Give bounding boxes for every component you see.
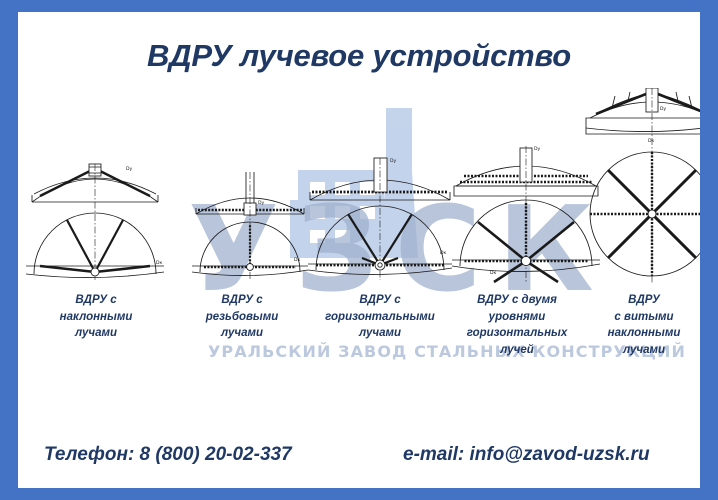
caption-line: ВДРУ с	[306, 292, 454, 309]
caption-line: горизонтальных	[442, 325, 592, 342]
contact-bar: Телефон: 8 (800) 20-02-337 e-mail: info@…	[18, 438, 700, 472]
svg-text:Dк: Dк	[440, 250, 447, 256]
caption-vdru-two-level-horizontal-rays: ВДРУ с двумя уровнями горизонтальных луч…	[442, 292, 592, 359]
caption-line: ВДРУ	[580, 292, 700, 309]
caption-vdru-twisted-inclined-rays: ВДРУ с витыми наклонными лучами	[580, 292, 700, 359]
figure-captions: ВДРУ с наклонными лучами ВДРУ с резьбовы…	[18, 292, 700, 372]
svg-text:Dк: Dк	[490, 270, 497, 276]
figure-vdru-two-level-horizontal-rays: Dу Dк	[450, 140, 602, 286]
page-title: ВДРУ лучевое устройство	[18, 38, 700, 74]
phone-number[interactable]: Телефон: 8 (800) 20-02-337	[44, 444, 292, 466]
slide-sheet: УЗСК УРАЛЬСКИЙ ЗАВОД СТАЛЬНЫХ КОНСТРУКЦИ…	[18, 12, 700, 488]
caption-line: лучей	[442, 342, 592, 359]
caption-line: лучами	[306, 325, 454, 342]
caption-line: ВДРУ с	[176, 292, 308, 309]
caption-line: ВДРУ с двумя	[442, 292, 592, 309]
figure-vdru-twisted-inclined-rays: Dу Dк	[582, 88, 700, 288]
svg-text:Dу: Dу	[390, 158, 397, 164]
caption-vdru-inclined-rays: ВДРУ с наклонными лучами	[26, 292, 166, 342]
figure-vdru-horizontal-rays: Dу Dк	[304, 152, 456, 284]
svg-text:Dу: Dу	[534, 146, 541, 152]
caption-line: лучами	[580, 342, 700, 359]
svg-text:Dу: Dу	[126, 166, 133, 172]
caption-line: лучами	[26, 325, 166, 342]
email-address[interactable]: e-mail: info@zavod-uzsk.ru	[403, 444, 650, 466]
slide-page: УЗСК УРАЛЬСКИЙ ЗАВОД СТАЛЬНЫХ КОНСТРУКЦИ…	[0, 0, 718, 500]
figure-vdru-inclined-rays: Dу Dк	[20, 154, 170, 284]
svg-text:Dк: Dк	[294, 257, 301, 263]
svg-text:Dу: Dу	[258, 200, 265, 206]
figure-vdru-threaded-rays: Dу Dк	[186, 172, 314, 284]
caption-line: резьбовыми	[176, 309, 308, 326]
caption-vdru-horizontal-rays: ВДРУ с горизонтальными лучами	[306, 292, 454, 342]
svg-text:Dк: Dк	[156, 260, 163, 266]
figures-row: Dу Dк	[18, 84, 700, 294]
caption-line: наклонными	[580, 325, 700, 342]
svg-text:Dк: Dк	[648, 138, 655, 144]
svg-text:Dу: Dу	[660, 106, 667, 112]
caption-line: лучами	[176, 325, 308, 342]
caption-line: горизонтальными	[306, 309, 454, 326]
caption-line: с витыми	[580, 309, 700, 326]
caption-line: уровнями	[442, 309, 592, 326]
caption-vdru-threaded-rays: ВДРУ с резьбовыми лучами	[176, 292, 308, 342]
caption-line: наклонными	[26, 309, 166, 326]
caption-line: ВДРУ с	[26, 292, 166, 309]
